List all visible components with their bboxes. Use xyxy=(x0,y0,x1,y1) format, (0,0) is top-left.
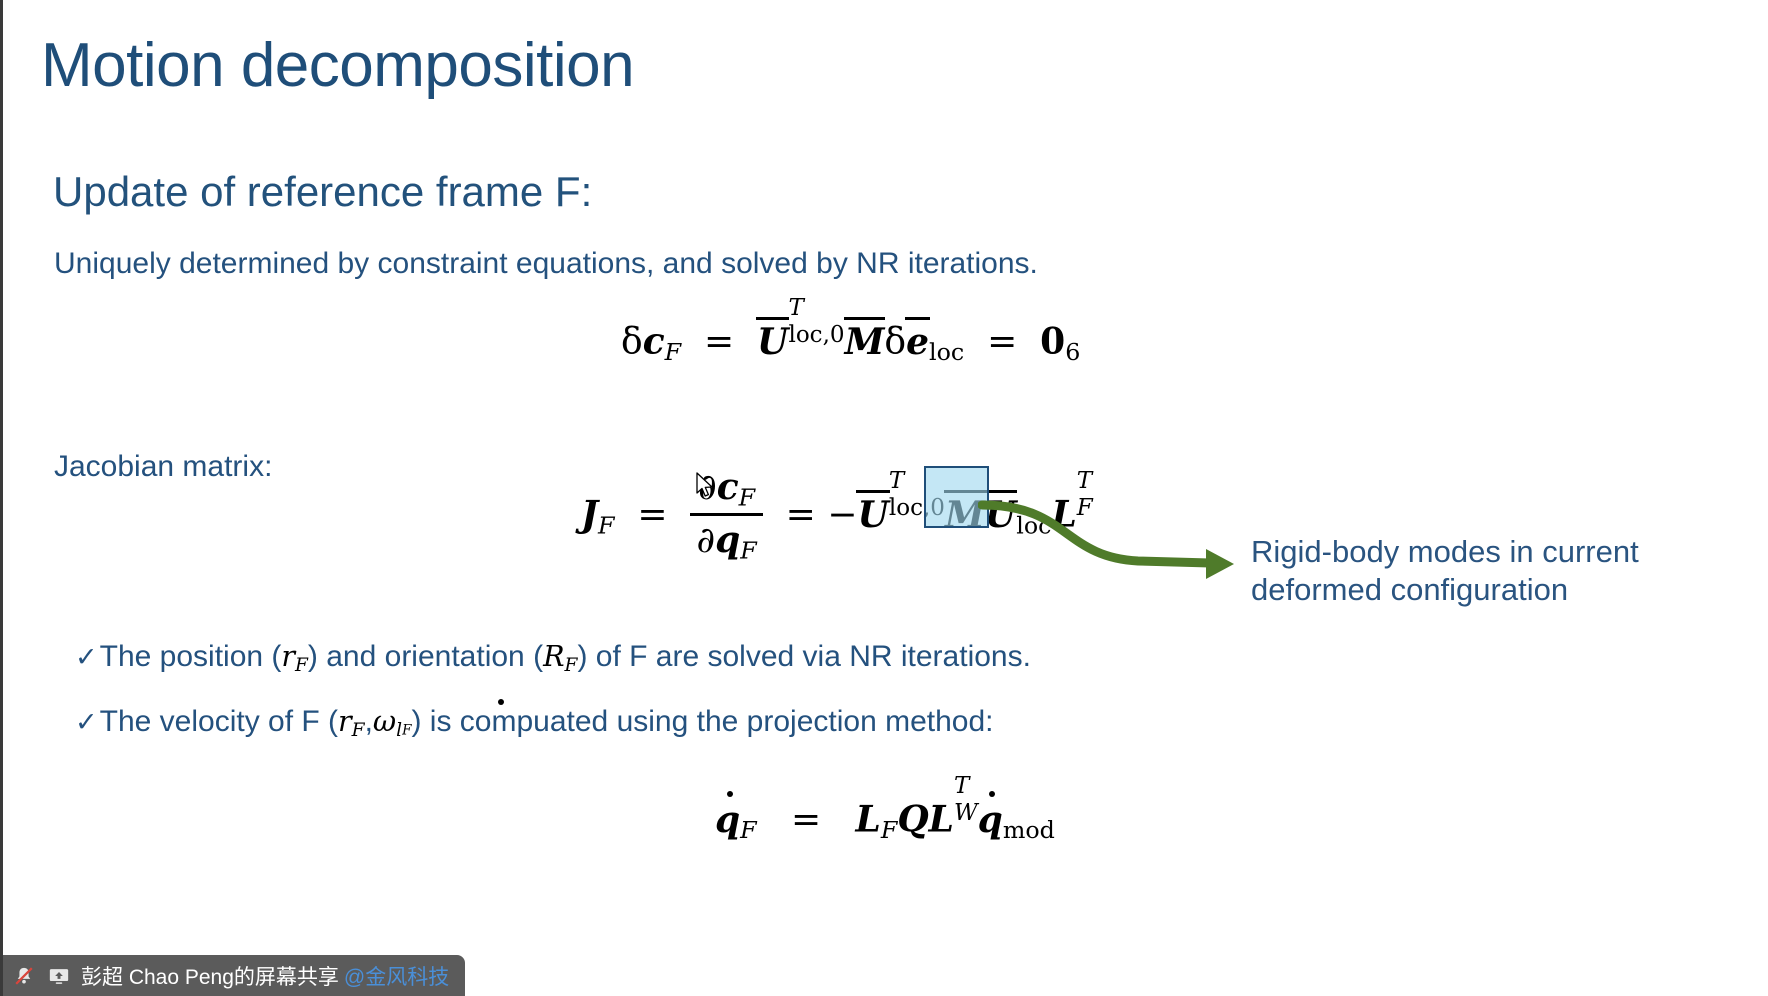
intro-paragraph: Uniquely determined by constraint equati… xyxy=(54,247,1038,281)
subscript-F: F xyxy=(352,720,365,741)
matrix-J: J xyxy=(581,494,598,536)
bullet-text-b: ) and orientation ( xyxy=(308,640,543,673)
bullet-text-a: The velocity of F ( xyxy=(100,705,338,738)
subscript-F: F xyxy=(665,338,681,366)
callout-line-1: Rigid-body modes in current xyxy=(1251,533,1711,571)
variable-r: r xyxy=(281,640,295,673)
subscript-F: F xyxy=(739,483,755,511)
subscript-F: F xyxy=(598,511,614,539)
equation-constraint: δcF = UTloc,0Mδeloc = 06 xyxy=(621,312,1080,366)
share-session-label: 彭超 Chao Peng的屏幕共享 xyxy=(81,961,339,991)
screen-share-taskbar[interactable]: 彭超 Chao Peng的屏幕共享 @金风科技 xyxy=(3,955,465,996)
bell-muted-icon[interactable] xyxy=(11,964,37,988)
matrix-Q: Q xyxy=(897,799,928,841)
jacobian-label: Jacobian matrix: xyxy=(54,450,272,484)
superscript-T: T xyxy=(889,470,945,494)
partial-symbol: ∂ xyxy=(696,520,715,561)
matrix-L-F: L xyxy=(856,799,881,841)
subscript-F: F xyxy=(740,537,756,565)
vector-q-dot: q xyxy=(715,799,740,841)
vector-e-bar: e xyxy=(906,321,929,363)
delta-symbol-2: δ xyxy=(884,322,906,363)
equals-sign-2: = xyxy=(987,322,1017,363)
screen-share-icon[interactable] xyxy=(46,964,72,988)
superscript-T: T xyxy=(954,775,978,799)
variable-omega: ω xyxy=(373,705,396,738)
matrix-M-bar: M xyxy=(845,321,885,363)
subscript-loc0: loc,0 xyxy=(788,324,844,348)
matrix-U-bar: U xyxy=(757,321,788,363)
subscript-mod: mod xyxy=(1003,816,1055,844)
check-icon: ✓ xyxy=(75,707,98,737)
bullet-item-velocity: ✓The velocity of F (rF,ωlF) is compuated… xyxy=(75,705,993,741)
subscript-F: F xyxy=(740,816,756,844)
zero-vector: 0 xyxy=(1040,321,1065,363)
LW-sup-sub-group: TW xyxy=(954,790,978,837)
callout-line-2: deformed configuration xyxy=(1251,571,1711,609)
subscript-W: W xyxy=(954,802,978,826)
share-session-handle: @金风科技 xyxy=(344,961,449,991)
subscript-6: 6 xyxy=(1065,338,1080,366)
equals-sign-1: = xyxy=(637,495,667,536)
superscript-T: T xyxy=(788,297,844,321)
subscript-loc0: loc,0 xyxy=(889,497,945,521)
U0-sup-sub-group: Tloc,0 xyxy=(889,485,945,532)
callout-text: Rigid-body modes in current deformed con… xyxy=(1251,533,1711,610)
section-heading: Update of reference frame F: xyxy=(53,168,592,216)
equation-velocity: qF = LFQLTWqmod xyxy=(715,790,1055,844)
subscript-loc: loc xyxy=(929,338,964,366)
subscript-F: F xyxy=(295,655,308,676)
bullet-text-b: , xyxy=(365,705,373,738)
subscript-F: F xyxy=(881,816,897,844)
callout-arrow-icon xyxy=(978,495,1248,585)
vector-c: c xyxy=(643,321,665,363)
equals-sign-2: = xyxy=(786,495,816,536)
variable-R: R xyxy=(543,640,564,673)
fraction-denominator: ∂qF xyxy=(690,513,762,565)
slide-canvas: Motion decomposition Update of reference… xyxy=(0,0,1768,996)
minus-sign: − xyxy=(827,495,857,536)
variable-r-dot: r xyxy=(338,705,352,738)
matrix-L-W: L xyxy=(929,799,954,841)
bullet-text-c: ) is compuated using the projection meth… xyxy=(411,705,993,738)
vector-c: c xyxy=(717,466,739,508)
page-title: Motion decomposition xyxy=(41,30,634,101)
bullet-item-position: ✓The position (rF) and orientation (RF) … xyxy=(75,640,1031,676)
U-sup-sub-group: Tloc,0 xyxy=(788,312,844,359)
subscript-F: F xyxy=(565,655,578,676)
bullet-text-a: The position ( xyxy=(100,640,282,673)
equals-sign: = xyxy=(791,800,821,841)
matrix-U0-bar: U xyxy=(857,494,888,536)
bullet-text-c: ) of F are solved via NR iterations. xyxy=(577,640,1031,673)
equals-sign-1: = xyxy=(704,322,734,363)
delta-symbol: δ xyxy=(621,322,643,363)
mouse-cursor-icon xyxy=(696,472,716,500)
vector-q: q xyxy=(715,519,740,561)
check-icon: ✓ xyxy=(75,642,98,672)
vector-q-mod-dot: q xyxy=(978,799,1003,841)
superscript-T: T xyxy=(1077,470,1093,494)
